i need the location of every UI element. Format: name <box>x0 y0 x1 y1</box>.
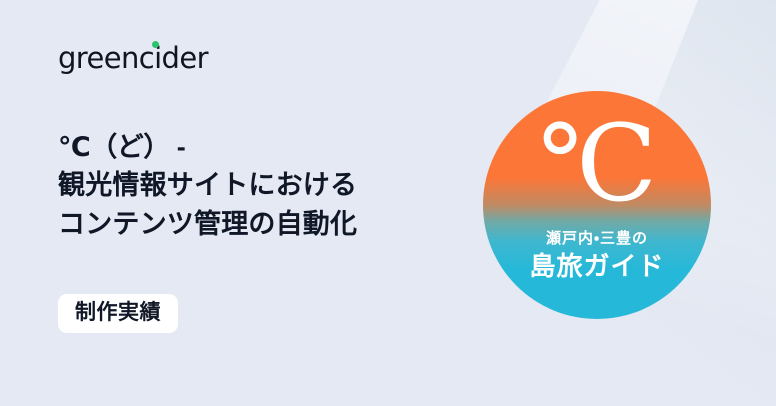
emblem-subtitle: 瀬戸内・三豊の <box>483 230 711 248</box>
site-emblem: ℃ 瀬戸内・三豊の 島旅ガイド <box>483 91 711 319</box>
page-title-line-2: 観光情報サイトにおける <box>58 166 478 204</box>
category-badge: 制作実績 <box>58 294 178 333</box>
page-title-line-1: ℃（ど） - <box>58 128 478 166</box>
brand-logo-wordmark: greencider <box>58 44 208 73</box>
page-title: ℃（ど） - 観光情報サイトにおける コンテンツ管理の自動化 <box>58 128 478 243</box>
green-dot-icon <box>152 41 159 48</box>
brand-logo[interactable]: greencider <box>58 44 208 73</box>
emblem-degree-celsius-symbol: ℃ <box>483 111 711 217</box>
emblem-title: 島旅ガイド <box>483 251 711 282</box>
page-title-line-3: コンテンツ管理の自動化 <box>58 205 478 243</box>
ogp-card: greencider ℃（ど） - 観光情報サイトにおける コンテンツ管理の自動… <box>0 0 776 406</box>
